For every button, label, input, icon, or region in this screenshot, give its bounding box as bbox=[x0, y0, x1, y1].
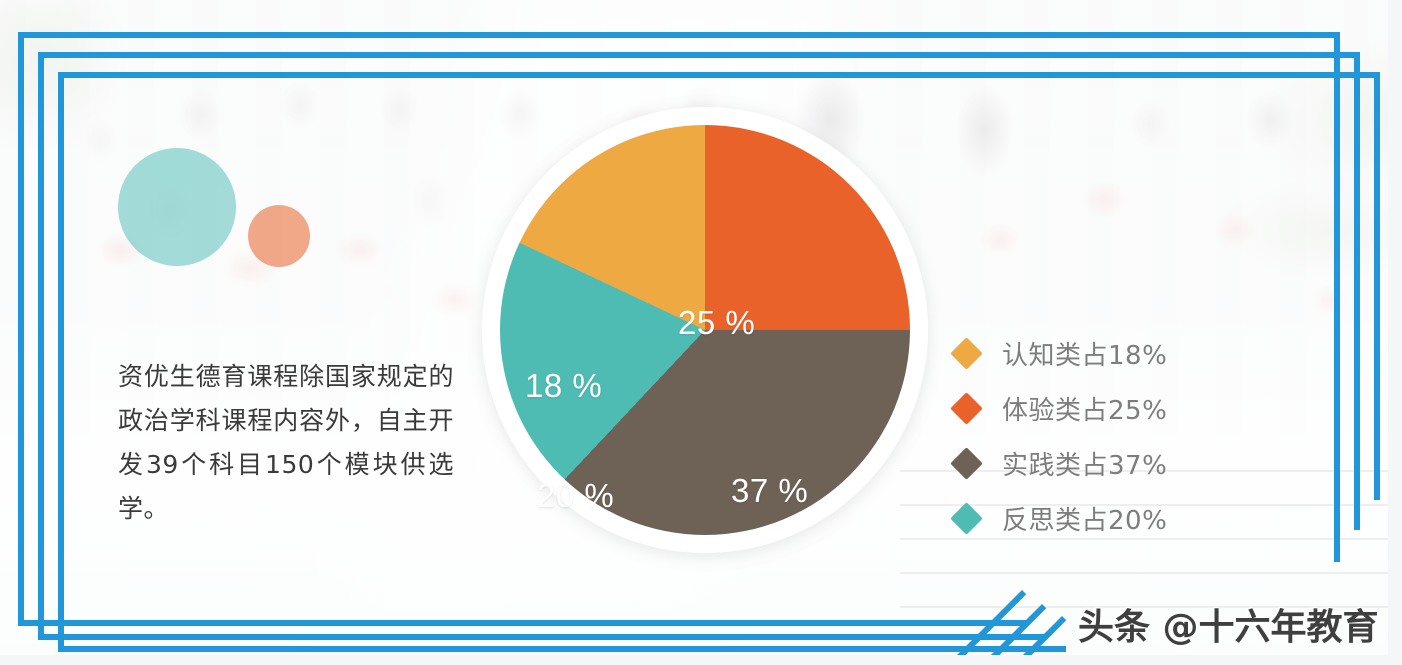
legend-diamond-icon-0 bbox=[950, 337, 983, 370]
frame-inner-bottom bbox=[58, 646, 1066, 652]
pie-label-2: 20 % bbox=[537, 477, 614, 515]
legend-item-3[interactable]: 反思类占20% bbox=[955, 495, 1215, 542]
frame-inner-left bbox=[58, 72, 64, 652]
legend-label-2: 实践类占37% bbox=[1002, 445, 1167, 482]
decorative-circle-orange bbox=[248, 205, 310, 267]
frame-middle-right bbox=[1354, 52, 1360, 530]
legend-item-2[interactable]: 实践类占37% bbox=[955, 440, 1215, 487]
frame-mask-right bbox=[1388, 0, 1402, 665]
watermark: 头条 @十六年教育 bbox=[1078, 598, 1379, 650]
frame-middle-left bbox=[38, 52, 44, 640]
legend-diamond-icon-2 bbox=[950, 447, 983, 480]
legend-label-1: 体验类占25% bbox=[1002, 390, 1167, 427]
frame-outer-top bbox=[18, 32, 1340, 38]
frame-middle-top bbox=[38, 52, 1360, 58]
frame-inner-top bbox=[58, 72, 1380, 78]
frame-outer-bottom bbox=[18, 620, 1026, 626]
frame-middle-bottom bbox=[38, 634, 1046, 640]
legend-label-3: 反思类占20% bbox=[1002, 500, 1167, 537]
frame-outer-left bbox=[18, 32, 24, 626]
chart-legend: 认知类占18% 体验类占25% 实践类占37% 反思类占20% bbox=[955, 330, 1215, 550]
legend-diamond-icon-1 bbox=[950, 392, 983, 425]
legend-diamond-icon-3 bbox=[950, 502, 983, 535]
pie-label-0: 25 % bbox=[678, 304, 755, 342]
frame-inner-right bbox=[1374, 72, 1380, 500]
legend-item-0[interactable]: 认知类占18% bbox=[955, 330, 1215, 377]
decorative-circle-teal bbox=[118, 148, 236, 266]
description-text: 资优生德育课程除国家规定的政治学科课程内容外，自主开发39个科目150个模块供选… bbox=[118, 355, 454, 531]
frame-mask-bottom bbox=[0, 655, 1402, 665]
frame-outer-right bbox=[1334, 32, 1340, 562]
pie-chart[interactable]: 25 % 37 % 20 % 18 % bbox=[482, 107, 928, 553]
legend-item-1[interactable]: 体验类占25% bbox=[955, 385, 1215, 432]
legend-label-0: 认知类占18% bbox=[1002, 335, 1167, 372]
pie-label-3: 18 % bbox=[525, 367, 602, 405]
pie-label-1: 37 % bbox=[731, 472, 808, 510]
